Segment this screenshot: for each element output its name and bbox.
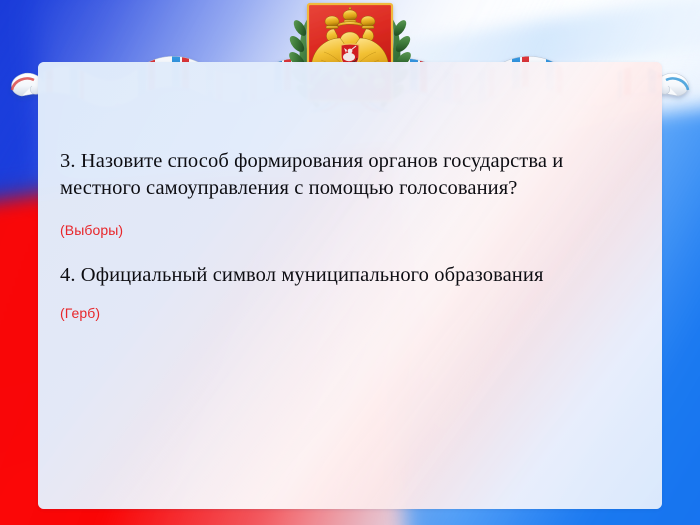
question-block-3: 3. Назовите способ формирования органов … xyxy=(60,148,632,238)
spacer xyxy=(60,240,632,262)
question-text-3: 3. Назовите способ формирования органов … xyxy=(60,148,632,202)
presentation-slide: 3. Назовите способ формирования органов … xyxy=(0,0,700,525)
content-panel: 3. Назовите способ формирования органов … xyxy=(38,62,662,509)
answer-text-3: (Выборы) xyxy=(60,222,632,238)
question-block-4: 4. Официальный символ муниципального обр… xyxy=(60,262,632,321)
panel-body: 3. Назовите способ формирования органов … xyxy=(38,62,662,321)
question-text-4: 4. Официальный символ муниципального обр… xyxy=(60,262,632,289)
answer-text-4: (Герб) xyxy=(60,305,632,321)
spacer xyxy=(60,202,632,222)
spacer xyxy=(60,289,632,305)
